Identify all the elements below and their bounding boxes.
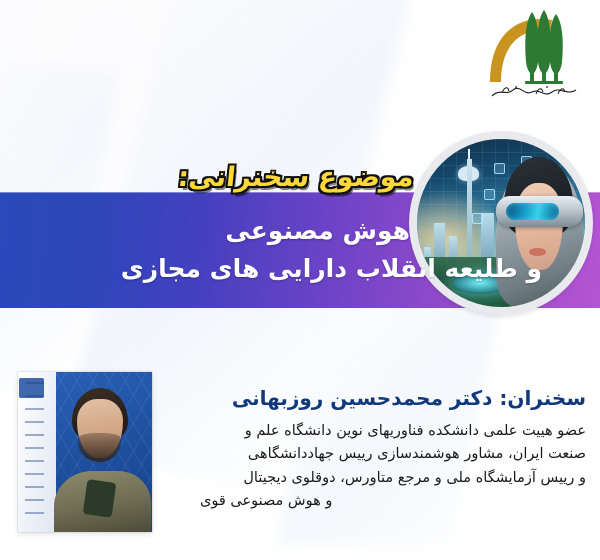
photo-banner-stripe xyxy=(19,378,44,397)
vr-lens-icon xyxy=(506,203,558,220)
network-node-icon xyxy=(472,213,483,224)
bottom-fade xyxy=(0,534,600,560)
bio-line: و هوش مصنوعی قوی xyxy=(166,490,586,513)
logo-calligraphy xyxy=(492,86,576,96)
vr-user-figure xyxy=(488,152,585,307)
bio-line: و رییس آزمایشگاه ملی و مرجع متاورس، دوقل… xyxy=(166,467,586,490)
photo-side-banner xyxy=(18,372,56,532)
bio-line: عضو هییت علمی دانشکده فناوریهای نوین دان… xyxy=(166,420,586,443)
speaker-photo xyxy=(18,372,152,532)
event-poster: موضوع سخنرانی: هوش مصنوعی و طلیعه انقلاب… xyxy=(0,0,600,560)
speaker-name: سخنران: دکتر محمدحسین روزبهانی xyxy=(166,386,586,411)
speaker-collar xyxy=(83,479,117,518)
vr-headset-icon xyxy=(496,196,583,227)
tree-trunks-icon xyxy=(525,73,563,84)
speaker-bio: عضو هییت علمی دانشکده فناوریهای نوین دان… xyxy=(166,420,586,514)
cypress-trees-icon xyxy=(525,10,563,74)
bio-line: صنعت ایران، مشاور هوشمندسازی رییس جهاددا… xyxy=(166,443,586,466)
lips-icon xyxy=(529,248,546,256)
hero-image xyxy=(417,139,585,307)
university-logo xyxy=(480,4,592,104)
speaker-details: سخنران: دکتر محمدحسین روزبهانی عضو هییت … xyxy=(166,386,586,514)
